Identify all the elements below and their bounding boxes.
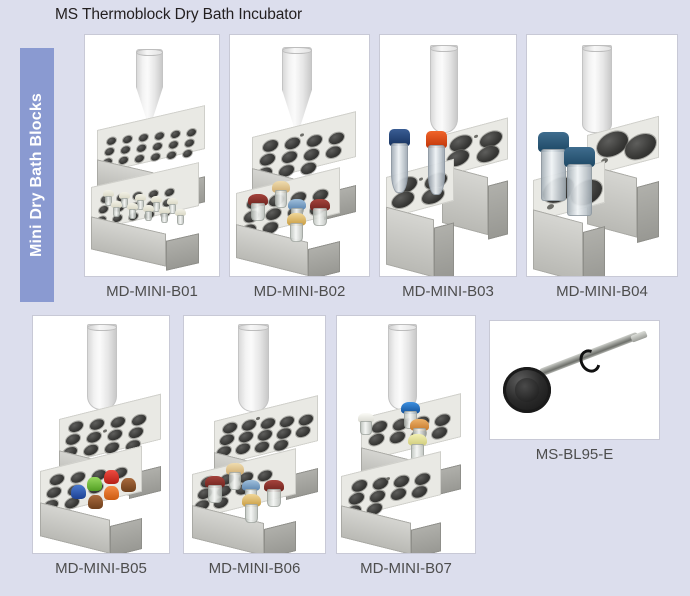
product-card-md-mini-b06[interactable] <box>183 315 326 554</box>
product-caption-md-mini-b01: MD-MINI-B01 <box>84 283 220 300</box>
product-image-md-mini-b01 <box>85 35 219 276</box>
sample-tube <box>143 205 154 221</box>
sample-tube-capped <box>104 486 119 504</box>
sample-tube <box>159 207 170 223</box>
product-image-md-mini-b04 <box>527 35 677 276</box>
sample-tube <box>111 201 122 217</box>
product-caption-md-mini-b02: MD-MINI-B02 <box>229 283 370 300</box>
product-card-md-mini-b02[interactable] <box>229 34 370 277</box>
product-image-md-mini-b07 <box>337 316 475 553</box>
product-image-md-mini-b06 <box>184 316 325 553</box>
conical-tube-blue-cap <box>389 129 410 193</box>
sample-tube-capped <box>87 477 102 495</box>
centrifuge-tube-50ml-blue-cap <box>564 147 595 215</box>
product-card-ms-bl95-e[interactable] <box>489 320 660 440</box>
product-image-md-mini-b02 <box>230 35 369 276</box>
flat-bottom-tube-icon <box>582 45 612 133</box>
round-bottom-tube-icon <box>430 45 458 133</box>
sample-tube-capped <box>358 413 374 435</box>
product-caption-md-mini-b07: MD-MINI-B07 <box>336 560 476 577</box>
product-card-md-mini-b05[interactable] <box>32 315 170 554</box>
sample-tube-capped <box>88 495 103 513</box>
product-card-md-mini-b07[interactable] <box>336 315 476 554</box>
product-catalog-page: MS Thermoblock Dry Bath Incubator Mini D… <box>0 0 690 596</box>
product-card-md-mini-b03[interactable] <box>379 34 517 277</box>
probe-knob <box>503 367 551 413</box>
product-caption-md-mini-b06: MD-MINI-B06 <box>183 560 326 577</box>
sample-tube-capped <box>310 199 330 225</box>
sample-tube-capped <box>248 194 268 220</box>
sample-tube-capped <box>71 485 86 503</box>
product-card-md-mini-b01[interactable] <box>84 34 220 277</box>
conical-tube-orange-cap <box>426 131 447 195</box>
round-bottom-tube-icon <box>388 324 417 410</box>
sidebar-banner-label: Mini Dry Bath Blocks <box>28 93 46 257</box>
sample-tube-capped <box>121 478 136 496</box>
round-bottom-tube-icon <box>87 324 117 410</box>
product-card-md-mini-b04[interactable] <box>526 34 678 277</box>
conical-microcentrifuge-tube-icon <box>282 47 312 129</box>
page-title: MS Thermoblock Dry Bath Incubator <box>55 6 302 24</box>
product-image-ms-bl95-e <box>490 321 659 439</box>
product-caption-md-mini-b04: MD-MINI-B04 <box>526 283 678 300</box>
round-bottom-tube-icon <box>238 324 269 412</box>
product-image-md-mini-b03 <box>380 35 516 276</box>
sample-tube-capped <box>242 494 261 522</box>
sample-tube <box>175 209 186 225</box>
sample-tube <box>127 203 138 219</box>
sidebar-banner-mini-dry-bath-blocks: Mini Dry Bath Blocks <box>20 48 54 302</box>
product-image-md-mini-b05 <box>33 316 169 553</box>
sample-tube-capped <box>264 480 284 506</box>
product-caption-md-mini-b03: MD-MINI-B03 <box>379 283 517 300</box>
sample-tube-capped <box>287 213 306 241</box>
product-caption-ms-bl95-e: MS-BL95-E <box>489 446 660 463</box>
product-caption-md-mini-b05: MD-MINI-B05 <box>32 560 170 577</box>
sample-tube-capped <box>205 476 225 502</box>
conical-microcentrifuge-tube-icon <box>136 49 163 122</box>
